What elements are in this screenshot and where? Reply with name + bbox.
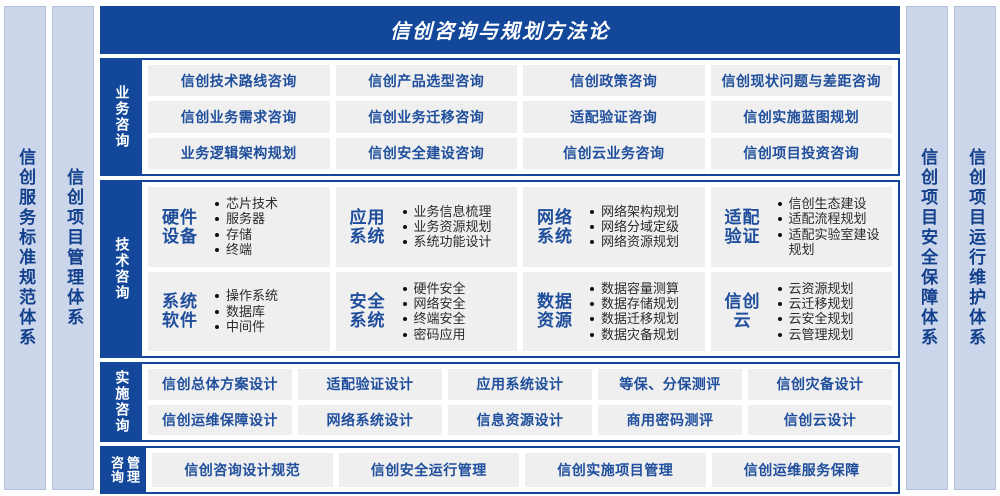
- list-item: 业务资源规划: [402, 219, 512, 234]
- list-item: 云安全规划: [777, 311, 887, 326]
- list-item[interactable]: 信创咨询设计规范: [152, 453, 333, 487]
- list-item: 终端: [214, 242, 324, 257]
- list-item[interactable]: 等保、分保测评: [598, 369, 742, 400]
- band-implementation-consulting-label: 实施咨询: [102, 364, 142, 440]
- list-item[interactable]: 信创实施蓝图规划: [711, 101, 893, 132]
- tech-card-items: 业务信息梳理 业务资源规划 系统功能设计: [402, 204, 512, 250]
- band-business-consulting: 业务咨询 信创技术路线咨询 信创产品选型咨询 信创政策咨询 信创现状问题与差距咨…: [100, 58, 900, 176]
- list-item: 操作系统: [214, 288, 324, 303]
- band-consulting-management-label-left: 咨询: [109, 456, 123, 484]
- list-item: 适配实验室建设规划: [777, 227, 887, 258]
- list-item[interactable]: 信创实施项目管理: [525, 453, 706, 487]
- list-item: 网络安全: [402, 296, 512, 311]
- list-item[interactable]: 信创总体方案设计: [148, 369, 292, 400]
- tech-card-title: 安全 系统: [342, 292, 394, 330]
- band-business-consulting-body: 信创技术路线咨询 信创产品选型咨询 信创政策咨询 信创现状问题与差距咨询 信创业…: [142, 60, 898, 174]
- list-item: 芯片技术: [214, 196, 324, 211]
- table-row: 系统 软件 操作系统 数据库 中间件 安全 系统: [148, 272, 892, 352]
- tech-card-title: 信创 云: [717, 292, 769, 330]
- list-item: 云资源规划: [777, 281, 887, 296]
- list-item[interactable]: 信创现状问题与差距咨询: [711, 65, 893, 96]
- list-item: 适配流程规划: [777, 211, 887, 226]
- table-row: 信创技术路线咨询 信创产品选型咨询 信创政策咨询 信创现状问题与差距咨询: [148, 65, 892, 96]
- band-implementation-consulting-label-text: 实施咨询: [115, 370, 130, 434]
- list-item[interactable]: 商用密码测评: [598, 405, 742, 436]
- tech-card-adaptation-verification[interactable]: 适配 验证 信创生态建设 适配流程规划 适配实验室建设规划: [711, 187, 893, 267]
- list-item[interactable]: 信创云设计: [748, 405, 892, 436]
- list-item: 中间件: [214, 319, 324, 334]
- list-item: 数据存储规划: [589, 296, 699, 311]
- tech-card-xinchuang-cloud[interactable]: 信创 云 云资源规划 云迁移规划 云安全规划 云管理规划: [711, 272, 893, 352]
- list-item: 硬件安全: [402, 281, 512, 296]
- list-item[interactable]: 信创灾备设计: [748, 369, 892, 400]
- list-item: 终端安全: [402, 311, 512, 326]
- right-pillar-operation-maintenance: 信创项目运行维护体系: [954, 6, 996, 490]
- list-item[interactable]: 网络系统设计: [298, 405, 442, 436]
- tech-card-items: 网络架构规划 网络分域定级 网络资源规划: [589, 204, 699, 250]
- left-pillar-project-management: 信创项目管理体系: [52, 6, 94, 490]
- band-consulting-management-body: 信创咨询设计规范 信创安全运行管理 信创实施项目管理 信创运维服务保障: [146, 448, 898, 492]
- list-item[interactable]: 适配验证咨询: [523, 101, 705, 132]
- list-item[interactable]: 信息资源设计: [448, 405, 592, 436]
- list-item: 网络资源规划: [589, 234, 699, 249]
- list-item: 云迁移规划: [777, 296, 887, 311]
- list-item[interactable]: 信创运维保障设计: [148, 405, 292, 436]
- band-consulting-management-label: 管理 咨询: [102, 448, 146, 492]
- list-item[interactable]: 信创运维服务保障: [712, 453, 893, 487]
- tech-card-network-system[interactable]: 网络 系统 网络架构规划 网络分域定级 网络资源规划: [523, 187, 705, 267]
- left-pillar-service-standard: 信创服务标准规范体系: [4, 6, 46, 490]
- page-title: 信创咨询与规划方法论: [100, 6, 900, 54]
- table-row: 信创业务需求咨询 信创业务迁移咨询 适配验证咨询 信创实施蓝图规划: [148, 101, 892, 132]
- band-consulting-management-label-right: 管理: [125, 456, 139, 484]
- list-item: 系统功能设计: [402, 234, 512, 249]
- list-item: 信创生态建设: [777, 196, 887, 211]
- tech-card-title: 应用 系统: [342, 208, 394, 246]
- right-pillar-security-assurance-label: 信创项目安全保障体系: [918, 148, 936, 348]
- tech-card-security-system[interactable]: 安全 系统 硬件安全 网络安全 终端安全 密码应用: [336, 272, 518, 352]
- tech-card-application-system[interactable]: 应用 系统 业务信息梳理 业务资源规划 系统功能设计: [336, 187, 518, 267]
- list-item[interactable]: 信创云业务咨询: [523, 138, 705, 169]
- list-item: 存储: [214, 227, 324, 242]
- list-item: 服务器: [214, 211, 324, 226]
- band-implementation-consulting-body: 信创总体方案设计 适配验证设计 应用系统设计 等保、分保测评 信创灾备设计 信创…: [142, 364, 898, 440]
- table-row: 业务逻辑架构规划 信创安全建设咨询 信创云业务咨询 信创项目投资咨询: [148, 138, 892, 169]
- list-item[interactable]: 信创项目投资咨询: [711, 138, 893, 169]
- list-item: 数据灾备规划: [589, 327, 699, 342]
- list-item: 数据迁移规划: [589, 311, 699, 326]
- list-item: 网络分域定级: [589, 219, 699, 234]
- tech-card-title: 硬件 设备: [154, 208, 206, 246]
- list-item: 数据库: [214, 304, 324, 319]
- list-item[interactable]: 适配验证设计: [298, 369, 442, 400]
- right-pillar-operation-maintenance-label: 信创项目运行维护体系: [966, 148, 984, 348]
- list-item: 数据容量测算: [589, 281, 699, 296]
- tech-card-title: 适配 验证: [717, 208, 769, 246]
- right-pillar-security-assurance: 信创项目安全保障体系: [906, 6, 948, 490]
- tech-card-items: 数据容量测算 数据存储规划 数据迁移规划 数据灾备规划: [589, 281, 699, 342]
- list-item[interactable]: 信创安全建设咨询: [336, 138, 518, 169]
- list-item[interactable]: 信创业务需求咨询: [148, 101, 330, 132]
- band-business-consulting-label-text: 业务咨询: [115, 85, 130, 149]
- tech-card-items: 芯片技术 服务器 存储 终端: [214, 196, 324, 257]
- list-item[interactable]: 信创安全运行管理: [339, 453, 520, 487]
- list-item: 密码应用: [402, 327, 512, 342]
- band-technical-consulting: 技术咨询 硬件 设备 芯片技术 服务器 存储 终端: [100, 180, 900, 358]
- list-item[interactable]: 业务逻辑架构规划: [148, 138, 330, 169]
- table-row: 信创咨询设计规范 信创安全运行管理 信创实施项目管理 信创运维服务保障: [152, 453, 892, 487]
- band-technical-consulting-body: 硬件 设备 芯片技术 服务器 存储 终端 应用 系统: [142, 182, 898, 356]
- band-technical-consulting-label-text: 技术咨询: [115, 237, 130, 301]
- list-item[interactable]: 信创技术路线咨询: [148, 65, 330, 96]
- band-consulting-management: 管理 咨询 信创咨询设计规范 信创安全运行管理 信创实施项目管理 信创运维服务保…: [100, 446, 900, 494]
- table-row: 信创运维保障设计 网络系统设计 信息资源设计 商用密码测评 信创云设计: [148, 405, 892, 436]
- table-row: 硬件 设备 芯片技术 服务器 存储 终端 应用 系统: [148, 187, 892, 267]
- table-row: 信创总体方案设计 适配验证设计 应用系统设计 等保、分保测评 信创灾备设计: [148, 369, 892, 400]
- center-column: 信创咨询与规划方法论 业务咨询 信创技术路线咨询 信创产品选型咨询 信创政策咨询…: [100, 6, 900, 490]
- tech-card-title: 网络 系统: [529, 208, 581, 246]
- tech-card-system-software[interactable]: 系统 软件 操作系统 数据库 中间件: [148, 272, 330, 352]
- list-item: 业务信息梳理: [402, 204, 512, 219]
- band-technical-consulting-label: 技术咨询: [102, 182, 142, 356]
- tech-card-title: 数据 资源: [529, 292, 581, 330]
- list-item[interactable]: 信创政策咨询: [523, 65, 705, 96]
- list-item[interactable]: 信创业务迁移咨询: [336, 101, 518, 132]
- diagram-root: 信创服务标准规范体系 信创项目管理体系 信创咨询与规划方法论 业务咨询 信创技术…: [0, 0, 1000, 496]
- tech-card-data-resource[interactable]: 数据 资源 数据容量测算 数据存储规划 数据迁移规划 数据灾备规划: [523, 272, 705, 352]
- list-item[interactable]: 信创产品选型咨询: [336, 65, 518, 96]
- list-item: 云管理规划: [777, 327, 887, 342]
- left-pillar-service-standard-label: 信创服务标准规范体系: [16, 148, 34, 348]
- left-pillar-project-management-label: 信创项目管理体系: [64, 168, 82, 328]
- tech-card-items: 信创生态建设 适配流程规划 适配实验室建设规划: [777, 196, 887, 257]
- band-implementation-consulting: 实施咨询 信创总体方案设计 适配验证设计 应用系统设计 等保、分保测评 信创灾备…: [100, 362, 900, 442]
- tech-card-items: 硬件安全 网络安全 终端安全 密码应用: [402, 281, 512, 342]
- list-item[interactable]: 应用系统设计: [448, 369, 592, 400]
- list-item: 网络架构规划: [589, 204, 699, 219]
- tech-card-hardware-device[interactable]: 硬件 设备 芯片技术 服务器 存储 终端: [148, 187, 330, 267]
- tech-card-items: 操作系统 数据库 中间件: [214, 288, 324, 334]
- tech-card-title: 系统 软件: [154, 292, 206, 330]
- band-business-consulting-label: 业务咨询: [102, 60, 142, 174]
- tech-card-items: 云资源规划 云迁移规划 云安全规划 云管理规划: [777, 281, 887, 342]
